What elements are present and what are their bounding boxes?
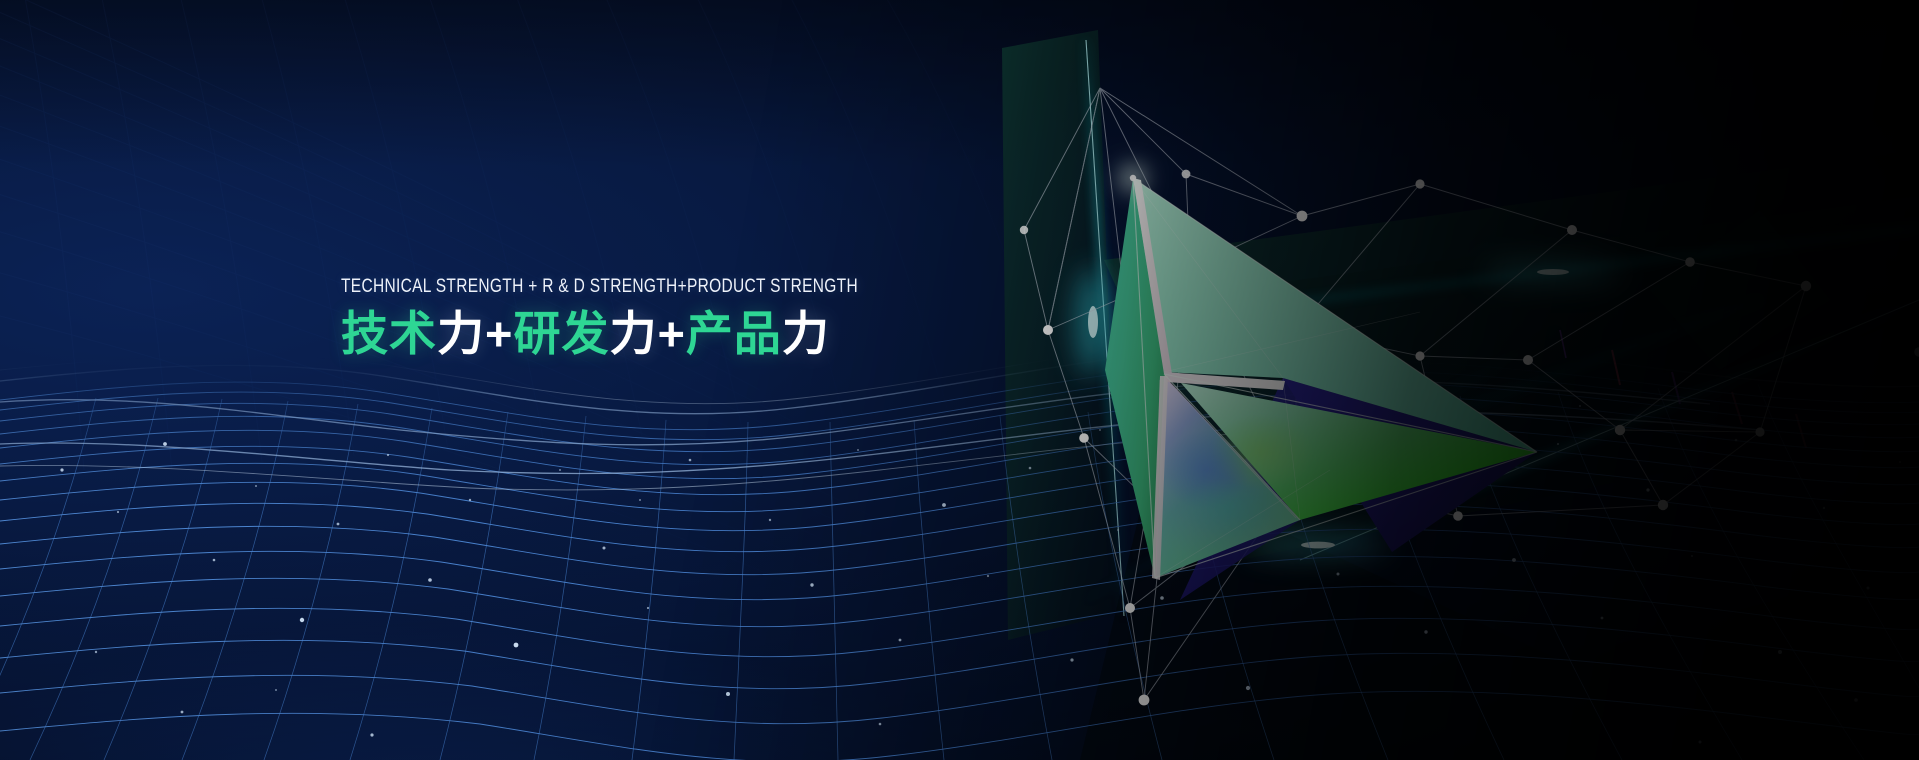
headline-text: 技术力+研发力+产品力 [341,309,1001,359]
headline-segment-3: 研发 [513,307,609,362]
headline-plus-1: + [485,307,513,360]
headline-segment-5: 产品 [686,307,782,362]
headline-segment-1: 技术 [341,307,437,362]
headline-segment-2: 力 [437,307,485,362]
headline-segment-4: 力 [609,307,657,362]
headline-segment-6: 力 [782,307,830,362]
banner-canvas: TECHNICAL STRENGTH + R & D STRENGTH+PROD… [0,0,1919,760]
eyebrow-text: TECHNICAL STRENGTH + R & D STRENGTH+PROD… [341,277,866,297]
headline-block: TECHNICAL STRENGTH + R & D STRENGTH+PROD… [341,277,1001,359]
headline-plus-2: + [657,307,685,360]
right-side-vignette [0,0,1919,760]
